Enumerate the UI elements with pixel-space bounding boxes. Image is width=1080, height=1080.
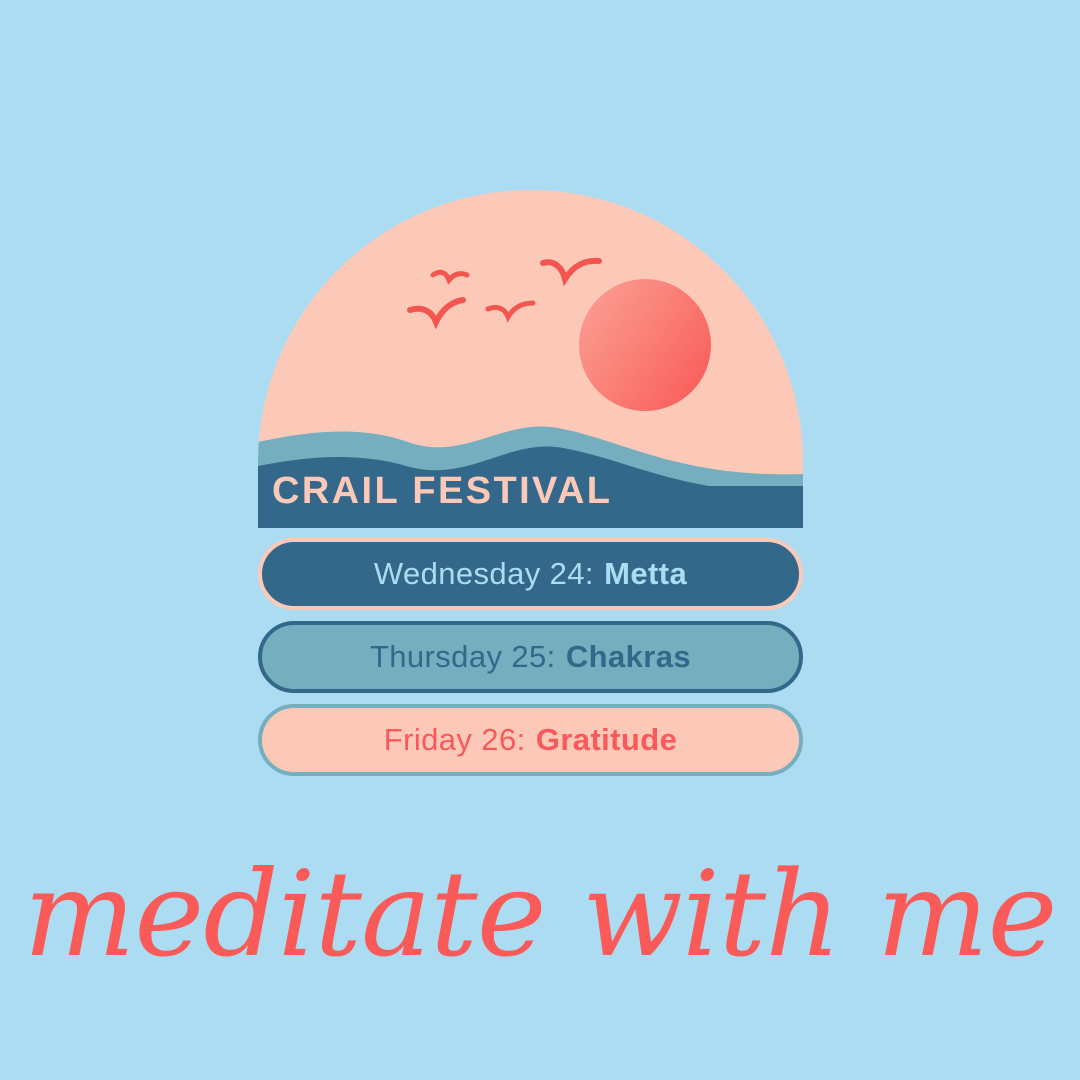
schedule-day-label: Wednesday 24: <box>374 556 594 592</box>
schedule-item-thursday[interactable]: Thursday 25: Chakras <box>258 621 803 693</box>
schedule-item-wednesday[interactable]: Wednesday 24: Metta <box>258 538 803 610</box>
schedule-item-friday[interactable]: Friday 26: Gratitude <box>258 704 803 776</box>
poster-canvas: CRAIL FESTIVAL Wednesday 24: Metta Thurs… <box>0 0 1080 1080</box>
schedule-topic-label: Chakras <box>566 639 691 675</box>
sun-icon <box>579 279 711 411</box>
schedule-list: Wednesday 24: Metta Thursday 25: Chakras… <box>258 538 803 787</box>
schedule-day-label: Thursday 25: <box>370 639 556 675</box>
schedule-topic-label: Metta <box>604 556 687 592</box>
tagline: meditate with me <box>0 855 1080 973</box>
schedule-day-label: Friday 26: <box>384 722 526 758</box>
page-title: CRAIL FESTIVAL <box>272 472 612 510</box>
schedule-topic-label: Gratitude <box>536 722 677 758</box>
